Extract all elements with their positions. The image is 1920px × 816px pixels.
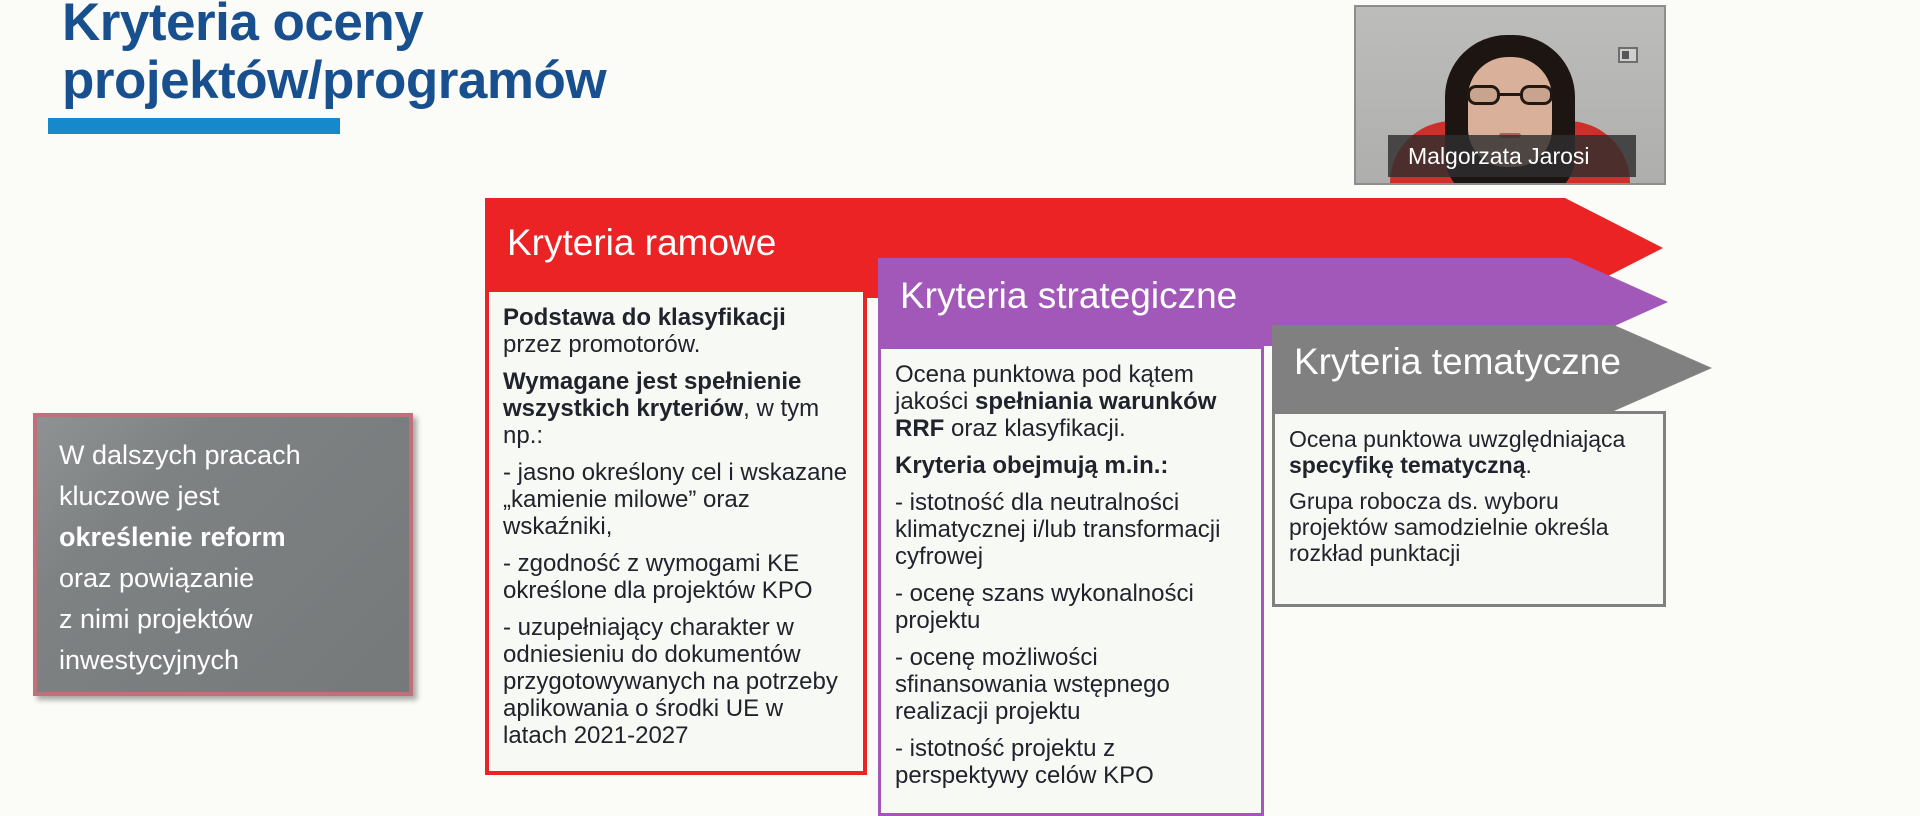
panel-kryteria-tematyczne: Ocena punktowa uwzględniająca specyfikę … [1272,411,1666,607]
panel-bold-text: specyfikę tematyczną [1289,452,1526,478]
participant-name: Malgorzata Jarosi [1408,143,1590,170]
panel-kryteria-ramowe: Podstawa do klasyfikacji przez promotoró… [485,288,867,775]
arrow-kryteria-tematyczne[interactable]: Kryteria tematyczne [1272,325,1712,411]
panel-text: oraz klasyfikacji. [944,415,1125,442]
note-line-bold: określenie reform [59,522,286,552]
page-title: Kryteria oceny projektów/programów [62,0,762,110]
panel-bullet: - jasno określony cel i wskazane „kamien… [503,459,849,540]
picture-frame-icon [1618,47,1638,63]
panel-paragraph: Kryteria obejmują m.in.: [895,452,1247,479]
panel-bullet: - ocenę możliwości sfinansowania wstępne… [895,644,1247,725]
panel-paragraph: Ocena punktowa uwzględniająca specyfikę … [1289,426,1649,478]
panel-text: . [1526,452,1532,478]
note-line: kluczowe jest [59,481,220,511]
arrow-label: Kryteria tematyczne [1294,341,1621,383]
arrow-label: Kryteria ramowe [507,222,776,264]
panel-paragraph: Grupa robocza ds. wyboru projektów samod… [1289,488,1649,566]
panel-bullet: - uzupełniający charakter w odniesieniu … [503,614,849,749]
arrow-head-icon [1614,325,1712,411]
note-line: oraz powiązanie [59,563,254,593]
participant-glasses [1467,85,1553,105]
note-box-text: W dalszych pracachkluczowe jestokreśleni… [59,435,395,681]
panel-paragraph: Podstawa do klasyfikacji przez promotoró… [503,304,849,358]
panel-bold-text: Kryteria obejmują m.in.: [895,452,1168,479]
note-box-dalsze-prace: W dalszych pracachkluczowe jestokreśleni… [33,413,413,696]
title-underline-bar [48,118,340,134]
panel-bullet: - ocenę szans wykonalności projektu [895,580,1247,634]
panel-bullet: - istotność projektu z perspektywy celów… [895,735,1247,789]
panel-paragraph: Ocena punktowa pod kątem jakości spełnia… [895,361,1247,442]
panel-bullet: - zgodność z wymogami KE określone dla p… [503,550,849,604]
panel-bold-text: Podstawa do klasyfikacji [503,304,786,331]
note-line: W dalszych pracach [59,440,301,470]
arrow-label: Kryteria strategiczne [900,275,1237,317]
panel-text: Ocena punktowa uwzględniająca [1289,426,1625,452]
video-participant-tile[interactable]: Malgorzata Jarosi [1354,5,1666,185]
panel-text: przez promotorów. [503,331,700,358]
panel-bullet: - istotność dla neutralności klimatyczne… [895,489,1247,570]
note-line: inwestycyjnych [59,645,239,675]
participant-name-bar: Malgorzata Jarosi [1388,135,1636,177]
panel-kryteria-strategiczne: Ocena punktowa pod kątem jakości spełnia… [878,346,1264,816]
panel-paragraph: Wymagane jest spełnienie wszystkich kryt… [503,368,849,449]
note-line: z nimi projektów [59,604,253,634]
